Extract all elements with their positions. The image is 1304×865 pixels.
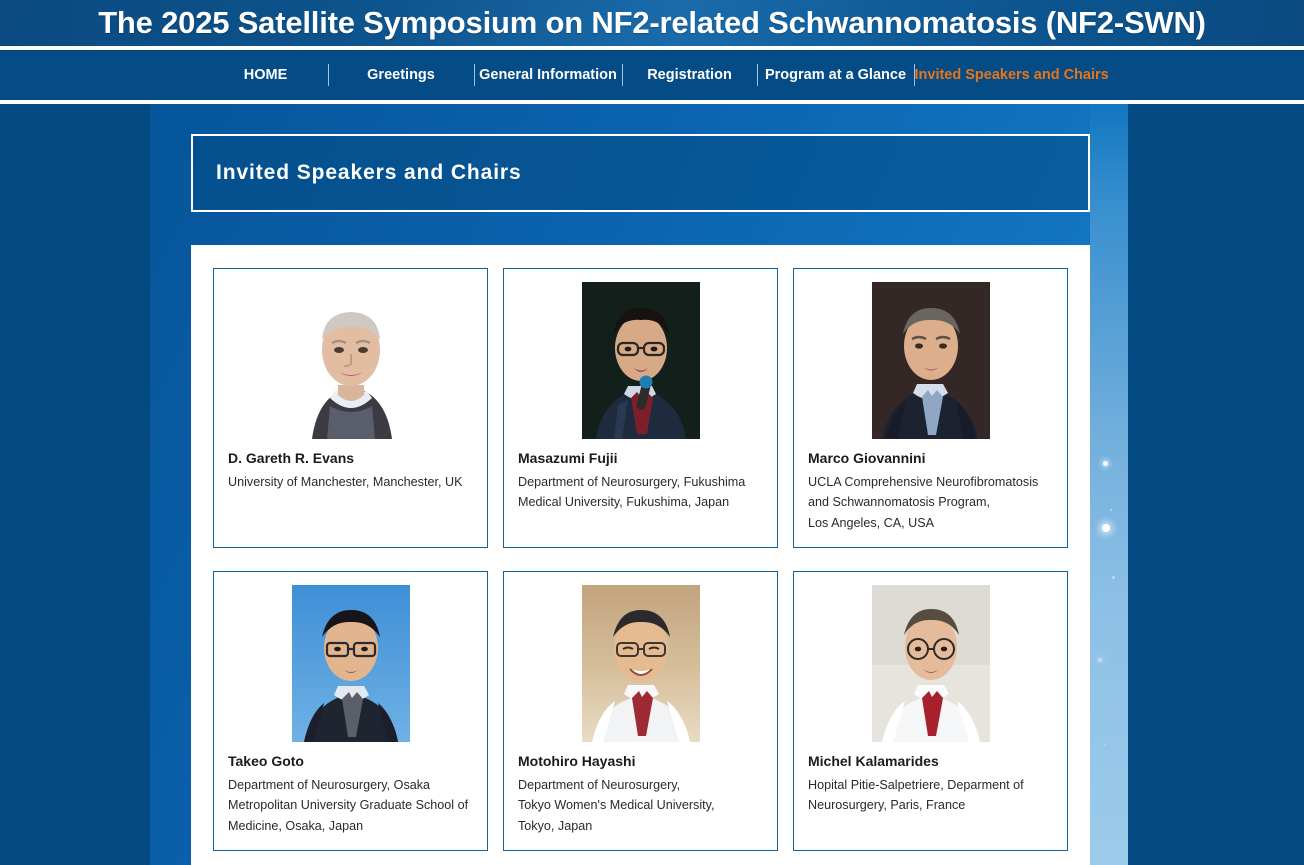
speaker-affiliation: Department of Neurosurgery, Tokyo Women'… [518,775,763,838]
speaker-name: Michel Kalamarides [808,753,1053,771]
affiliation-line: Hopital Pitie-Salpetriere, Deparment of [808,775,1053,796]
background-band-right [1128,104,1304,865]
nav-item-home[interactable]: HOME [204,63,328,87]
speaker-name: Motohiro Hayashi [518,753,763,771]
speaker-affiliation: Department of Neurosurgery, Fukushima Me… [518,472,763,514]
affiliation-line: Department of Neurosurgery, [518,775,763,796]
main-navigation: HOME Greetings General Information Regis… [0,50,1304,102]
speaker-name: Takeo Goto [228,753,473,771]
background-gradient-strip [1090,104,1128,865]
affiliation-line: Neurosurgery, Paris, France [808,795,1053,816]
decorative-dot-icon [1104,744,1106,746]
portrait-marco-giovannini [872,282,990,439]
speaker-name: Masazumi Fujii [518,450,763,468]
speakers-grid: D. Gareth R. Evans University of Manches… [213,268,1068,851]
speaker-photo-wrap [228,572,473,742]
speaker-card[interactable]: Michel Kalamarides Hopital Pitie-Salpetr… [793,571,1068,851]
affiliation-line: UCLA Comprehensive Neurofibromatosis [808,472,1053,493]
nav-item-program-at-a-glance[interactable]: Program at a Glance [758,63,914,87]
affiliation-line: Department of Neurosurgery, Osaka [228,775,473,796]
speaker-card[interactable]: Masazumi Fujii Department of Neurosurger… [503,268,778,548]
content-panel: D. Gareth R. Evans University of Manches… [191,245,1090,865]
speaker-card[interactable]: Marco Giovannini UCLA Comprehensive Neur… [793,268,1068,548]
speaker-photo-wrap [808,572,1053,742]
speaker-photo-wrap [808,269,1053,439]
speaker-affiliation: UCLA Comprehensive Neurofibromatosis and… [808,472,1053,535]
decorative-dot-icon [1098,658,1102,662]
nav-items-container: HOME Greetings General Information Regis… [204,63,1101,87]
affiliation-line: Department of Neurosurgery, Fukushima [518,472,763,493]
speaker-card[interactable]: D. Gareth R. Evans University of Manches… [213,268,488,548]
nav-item-greetings[interactable]: Greetings [329,63,474,87]
portrait-d-gareth-r-evans [292,282,410,439]
speaker-affiliation: Department of Neurosurgery, Osaka Metrop… [228,775,473,838]
decorative-dot-icon [1103,461,1108,466]
nav-item-general-information[interactable]: General Information [475,63,622,87]
decorative-dot-icon [1110,509,1112,511]
speaker-affiliation: University of Manchester, Manchester, UK [228,472,473,493]
affiliation-line: Los Angeles, CA, USA [808,513,1053,534]
affiliation-line: Metropolitan University Graduate School … [228,795,473,816]
portrait-takeo-goto [292,585,410,742]
affiliation-line: Tokyo, Japan [518,816,763,837]
portrait-masazumi-fujii [582,282,700,439]
speaker-affiliation: Hopital Pitie-Salpetriere, Deparment of … [808,775,1053,817]
decorative-dot-icon [1102,524,1110,532]
nav-item-registration[interactable]: Registration [623,63,757,87]
affiliation-line: University of Manchester, Manchester, UK [228,472,473,493]
speaker-photo-wrap [228,269,473,439]
affiliation-line: Tokyo Women's Medical University, [518,795,763,816]
decorative-dot-icon [1112,576,1115,579]
portrait-michel-kalamarides [872,585,990,742]
speaker-card[interactable]: Motohiro Hayashi Department of Neurosurg… [503,571,778,851]
speaker-name: Marco Giovannini [808,450,1053,468]
speaker-name: D. Gareth R. Evans [228,450,473,468]
speaker-card[interactable]: Takeo Goto Department of Neurosurgery, O… [213,571,488,851]
site-header: The 2025 Satellite Symposium on NF2-rela… [0,0,1304,48]
affiliation-line: and Schwannomatosis Program, [808,492,1053,513]
speaker-photo-wrap [518,269,763,439]
affiliation-line: Medicine, Osaka, Japan [228,816,473,837]
nav-item-invited-speakers-and-chairs[interactable]: Invited Speakers and Chairs [915,63,1101,87]
speaker-photo-wrap [518,572,763,742]
portrait-motohiro-hayashi [582,585,700,742]
site-title: The 2025 Satellite Symposium on NF2-rela… [0,5,1304,41]
page-title: Invited Speakers and Chairs [216,161,522,185]
affiliation-line: Medical University, Fukushima, Japan [518,492,763,513]
background-band-left [0,104,150,865]
section-title-box: Invited Speakers and Chairs [191,134,1090,212]
